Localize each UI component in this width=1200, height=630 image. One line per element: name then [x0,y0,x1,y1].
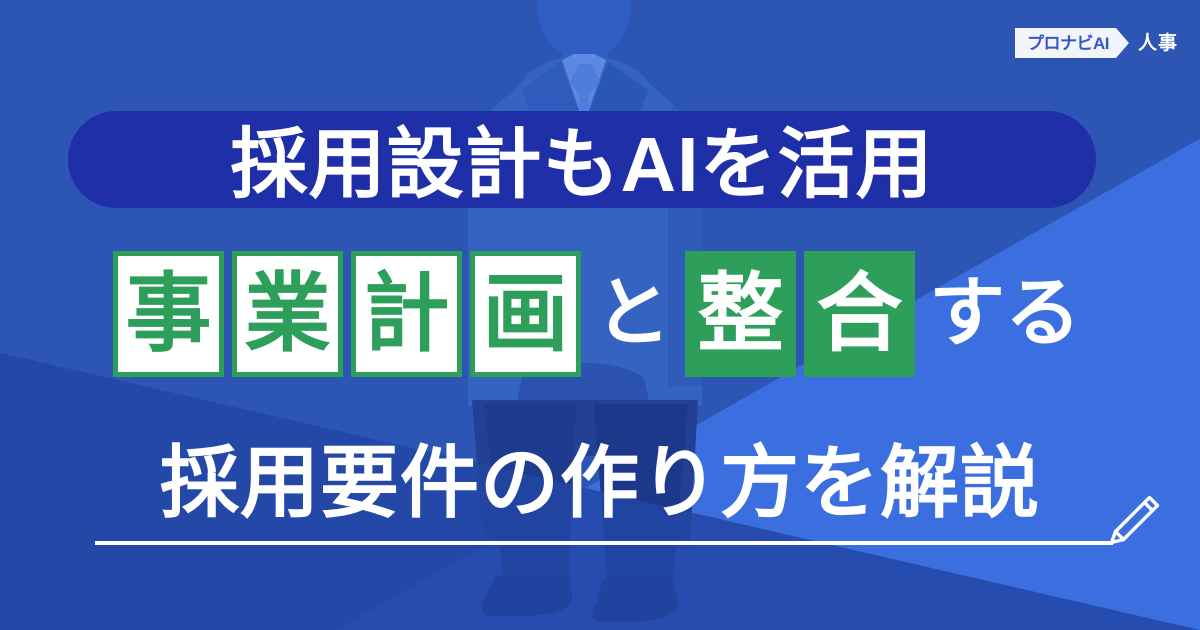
logo-badge: プロナビAI [1015,28,1129,58]
blog-header-banner: プロナビAI 人事 採用設計もAIを活用 事 業 計 画 と 整 合 する 採用… [0,0,1200,630]
headline-line-2: 事 業 計 画 と 整 合 する [0,243,1200,385]
boxed-char: 計 [351,251,462,377]
boxed-char: 合 [804,251,915,377]
headline-line-3: 採用要件の作り方を解説 [0,420,1200,530]
headline-connector: と [589,276,677,352]
pencil-icon [1103,489,1165,551]
logo-suffix-label: 人事 [1138,34,1178,53]
headline-underline [95,541,1113,545]
logo-badge-label: プロナビAI [1027,35,1109,52]
boxed-char: 事 [113,251,224,377]
boxed-char: 業 [232,251,343,377]
headline-suffix: する [923,276,1087,352]
brand-logo[interactable]: プロナビAI 人事 [1015,26,1178,60]
headline-line-1: 採用設計もAIを活用 [68,92,1096,224]
boxed-char: 整 [685,251,796,377]
boxed-char: 画 [470,251,581,377]
